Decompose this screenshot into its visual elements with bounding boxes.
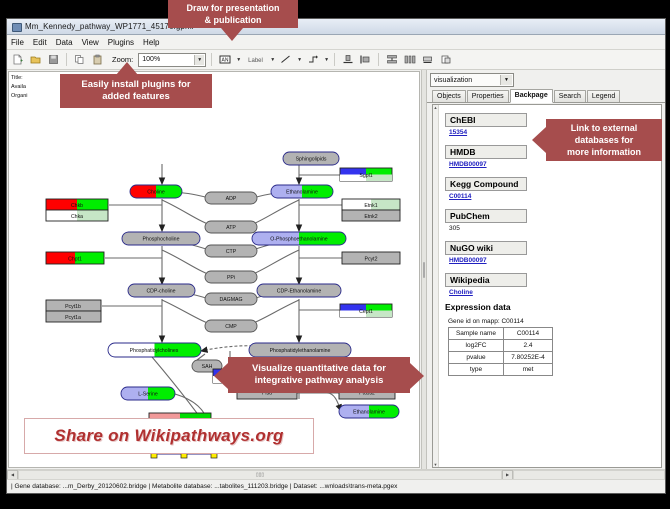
toolbar: Zoom: 100% ▼ AN ▼ Label ▼ ▼ ▼ xyxy=(7,50,665,70)
db-header-nugo-wiki: NuGO wiki xyxy=(445,241,527,255)
expression-table: Sample name C00114 log2FC 2.4 pvalue 7.8… xyxy=(448,327,553,376)
datanode-icon[interactable]: AN xyxy=(217,52,232,67)
svg-text:CTP: CTP xyxy=(226,249,237,255)
visualization-combo[interactable]: visualization ▼ xyxy=(430,73,514,87)
expression-data-heading: Expression data xyxy=(445,302,655,312)
new-file-icon[interactable] xyxy=(10,52,25,67)
db-value-pubchem: 305 xyxy=(449,225,655,232)
tab-properties[interactable]: Properties xyxy=(467,90,509,102)
chevron-down-icon[interactable]: ▼ xyxy=(297,57,302,63)
zoom-combo[interactable]: 100% ▼ xyxy=(138,53,206,67)
arrow-connector-icon[interactable] xyxy=(305,52,320,67)
svg-text:Etnk2: Etnk2 xyxy=(364,214,377,220)
svg-text:L-Serine: L-Serine xyxy=(138,392,158,398)
node-choline-top: Choline xyxy=(130,185,182,198)
svg-text:Pcyt2: Pcyt2 xyxy=(365,256,378,262)
chevron-down-icon[interactable]: ▼ xyxy=(194,55,204,65)
scroll-thumb-grip[interactable]: ▯▯▯ xyxy=(256,472,264,478)
svg-text:Chpt1: Chpt1 xyxy=(68,256,82,262)
node-etnk1: Etnk1 xyxy=(342,199,400,210)
node-cdp-ethanolamine: CDP-Ethanolamine xyxy=(257,284,341,297)
callout-external-links: Link to external databases for more info… xyxy=(546,119,662,161)
callout-links-arrow-icon xyxy=(532,127,546,153)
row-key: log2FC xyxy=(449,340,504,352)
paste-icon[interactable] xyxy=(90,52,105,67)
status-bar-text: | Gene database: ...m_Derby_20120602.bri… xyxy=(11,483,397,490)
row-key: Sample name xyxy=(449,328,504,340)
tab-backpage[interactable]: Backpage xyxy=(510,89,553,103)
svg-text:PPi: PPi xyxy=(227,275,235,281)
copy-icon[interactable] xyxy=(72,52,87,67)
label-icon[interactable]: Label xyxy=(244,52,266,67)
db-link-wikipedia[interactable]: Choline xyxy=(449,289,655,296)
toolbar-separator xyxy=(378,53,379,66)
node-chka: Chka xyxy=(46,210,108,221)
panel-tabstrip: Objects Properties Backpage Search Legen… xyxy=(427,90,665,103)
meta-title-label: Title: xyxy=(11,74,28,83)
menu-item-data[interactable]: Data xyxy=(56,38,73,47)
node-atp: ATP xyxy=(205,221,257,233)
scroll-up-icon[interactable]: ▲ xyxy=(434,105,438,110)
node-ppi: PPi xyxy=(205,271,257,283)
tab-search[interactable]: Search xyxy=(554,90,586,102)
menu-item-edit[interactable]: Edit xyxy=(33,38,47,47)
zoom-value: 100% xyxy=(142,56,160,63)
table-row: pvalue 7.80252E-4 xyxy=(449,352,553,364)
node-ethanolamine-top: Ethanolamine xyxy=(271,185,333,198)
toolbar-separator xyxy=(211,53,212,66)
callout-visualize-data: Visualize quantitative data for integrat… xyxy=(228,357,410,393)
toolbar-separator xyxy=(66,53,67,66)
scroll-track[interactable]: ▯▯▯ xyxy=(18,470,502,480)
screenshot-root: Mm_Kennedy_pathway_WP1771_45176.gpml Fil… xyxy=(0,0,670,509)
svg-text:ADP: ADP xyxy=(226,196,237,202)
toolbar-separator xyxy=(334,53,335,66)
svg-text:Cept1: Cept1 xyxy=(359,309,373,315)
callout-draw-line2: & publication xyxy=(186,14,279,26)
callout-links-line3: more information xyxy=(567,146,641,158)
open-folder-icon[interactable] xyxy=(28,52,43,67)
row-value: met xyxy=(504,364,553,376)
scroll-spacer xyxy=(513,470,665,480)
row-key: pvalue xyxy=(449,352,504,364)
row-value: 7.80252E-4 xyxy=(504,352,553,364)
svg-text:CDP-choline: CDP-choline xyxy=(146,289,175,295)
svg-text:CMP: CMP xyxy=(225,324,237,330)
row-value: 2.4 xyxy=(504,340,553,352)
callout-draw-for-publication: Draw for presentation & publication xyxy=(168,0,298,28)
node-cept1: Cept1 xyxy=(340,304,392,317)
menu-item-help[interactable]: Help xyxy=(143,38,159,47)
svg-text:Pcyt1b: Pcyt1b xyxy=(65,304,81,310)
callout-links-line2: databases for xyxy=(567,134,641,146)
svg-text:ATP: ATP xyxy=(226,225,236,231)
menu-item-file[interactable]: File xyxy=(11,38,24,47)
callout-share-wikipathways: Share on Wikipathways.org xyxy=(24,418,314,454)
scroll-left-icon[interactable]: ◀ xyxy=(7,470,18,480)
svg-text:O-Phosphoethanolamine: O-Phosphoethanolamine xyxy=(270,237,328,243)
line-icon[interactable] xyxy=(278,52,293,67)
svg-text:DAGMAG: DAGMAG xyxy=(219,297,242,303)
callout-visualize-line1: Visualize quantitative data for xyxy=(252,363,386,375)
group-icon[interactable] xyxy=(420,52,435,67)
svg-text:SAH: SAH xyxy=(202,364,213,370)
svg-text:AN: AN xyxy=(221,58,228,64)
scroll-down-icon[interactable]: ▼ xyxy=(434,462,438,467)
svg-text:Ethanolamine: Ethanolamine xyxy=(353,410,385,416)
table-row: Sample name C00114 xyxy=(449,328,553,340)
horizontal-scrollbar[interactable]: ◀ ▯▯▯ ▶ xyxy=(7,469,665,479)
node-adp: ADP xyxy=(205,192,257,204)
node-phosphocholine: Phosphocholine xyxy=(122,232,200,245)
node-phosphatidylcholines: Phosphatidylcholines xyxy=(108,343,201,357)
app-window-icon xyxy=(12,22,21,31)
meta-availability-label: Availa xyxy=(11,83,28,92)
db-link-nugo-wiki[interactable]: HMDB00097 xyxy=(449,257,655,264)
svg-text:Phosphatidylethanolamine: Phosphatidylethanolamine xyxy=(270,348,331,354)
node-pcyt2: Pcyt2 xyxy=(342,252,400,264)
table-row: log2FC 2.4 xyxy=(449,340,553,352)
chevron-down-icon[interactable]: ▼ xyxy=(236,57,241,63)
menu-item-plugins[interactable]: Plugins xyxy=(108,38,134,47)
node-pcyt1a: Pcyt1a xyxy=(46,311,101,322)
svg-text:Choline: Choline xyxy=(147,190,165,196)
callout-draw-arrow-icon xyxy=(221,28,243,41)
callout-plugins-line1: Easily install plugins for xyxy=(81,79,190,91)
callout-visualize-line2: integrative pathway analysis xyxy=(252,375,386,387)
distribute-icon[interactable] xyxy=(402,52,417,67)
title-bar: Mm_Kennedy_pathway_WP1771_45176.gpml xyxy=(7,19,665,35)
chevron-down-icon[interactable]: ▼ xyxy=(324,57,329,63)
menu-bar: File Edit Data View Plugins Help xyxy=(7,35,665,50)
node-pcyt1b: Pcyt1b xyxy=(46,300,101,311)
db-header-chebi: ChEBI xyxy=(445,113,527,127)
pathway-canvas[interactable]: Title: Availa Organi xyxy=(8,71,420,468)
share-text: Share on Wikipathways.org xyxy=(54,426,283,446)
svg-text:Etnk1: Etnk1 xyxy=(364,203,377,209)
row-value: C00114 xyxy=(504,328,553,340)
node-chkb: Chkb xyxy=(46,199,108,210)
db-link-kegg-compound[interactable]: C00114 xyxy=(449,193,655,200)
gene-id-on-mapp: Gene id on mapp: C00114 xyxy=(448,318,655,325)
chevron-down-icon[interactable]: ▼ xyxy=(500,75,512,85)
callout-draw-line1: Draw for presentation xyxy=(186,2,279,14)
svg-text:Sgpl1: Sgpl1 xyxy=(359,173,372,179)
align-bottom-icon[interactable] xyxy=(340,52,355,67)
callout-plugins-line2: added features xyxy=(81,91,190,103)
svg-text:Chkb: Chkb xyxy=(71,203,83,209)
row-key: type xyxy=(449,364,504,376)
node-etnk2: Etnk2 xyxy=(342,210,400,221)
callout-install-plugins: Easily install plugins for added feature… xyxy=(60,74,212,108)
node-o-phosphoethanolamine: O-Phosphoethanolamine xyxy=(252,232,346,245)
callout-links-line1: Link to external xyxy=(567,122,641,134)
node-chpt1: Chpt1 xyxy=(46,252,104,264)
pathway-diagram: Sphingolipids Sgpl1 Choline Ethanolamine xyxy=(9,72,420,468)
node-cmp: CMP xyxy=(205,320,257,332)
db-header-pubchem: PubChem xyxy=(445,209,527,223)
svg-text:Phosphatidylcholines: Phosphatidylcholines xyxy=(130,348,179,354)
stack-vertical-icon[interactable] xyxy=(384,52,399,67)
pathway-meta-labels: Title: Availa Organi xyxy=(11,74,28,101)
node-l-serine-left: L-Serine xyxy=(121,387,175,400)
node-sgpl1: Sgpl1 xyxy=(340,168,392,181)
node-phosphatidylethanolamine: Phosphatidylethanolamine xyxy=(249,343,351,357)
svg-text:Label: Label xyxy=(248,58,263,64)
visualization-combo-value: visualization xyxy=(434,77,472,84)
save-icon[interactable] xyxy=(46,52,61,67)
node-ethanolamine-right: Ethanolamine xyxy=(339,405,399,418)
db-header-hmdb: HMDB xyxy=(445,145,527,159)
db-header-kegg-compound: Kegg Compound xyxy=(445,177,527,191)
status-bar: | Gene database: ...m_Derby_20120602.bri… xyxy=(7,479,665,493)
svg-text:CDP-Ethanolamine: CDP-Ethanolamine xyxy=(277,289,322,295)
align-left-icon[interactable] xyxy=(358,52,373,67)
tab-objects[interactable]: Objects xyxy=(432,90,466,102)
node-cdp-choline: CDP-choline xyxy=(128,284,195,297)
scroll-right-icon[interactable]: ▶ xyxy=(502,470,513,480)
menu-item-view[interactable]: View xyxy=(82,38,99,47)
chevron-down-icon[interactable]: ▼ xyxy=(270,57,275,63)
visualization-row: visualization ▼ xyxy=(427,70,665,90)
svg-text:Phosphocholine: Phosphocholine xyxy=(143,237,180,243)
order-icon[interactable] xyxy=(438,52,453,67)
table-row: type met xyxy=(449,364,553,376)
svg-text:Pcyt1a: Pcyt1a xyxy=(65,315,81,321)
svg-text:Ethanolamine: Ethanolamine xyxy=(286,190,318,196)
svg-text:Chka: Chka xyxy=(71,214,83,220)
callout-visualize-arrow-left-icon xyxy=(214,363,228,389)
db-header-wikipedia: Wikipedia xyxy=(445,273,527,287)
db-link-hmdb[interactable]: HMDB00097 xyxy=(449,161,655,168)
node-ctp: CTP xyxy=(205,245,257,257)
callout-visualize-arrow-right-icon xyxy=(410,363,424,389)
meta-organism-label: Organi xyxy=(11,92,28,101)
tab-legend[interactable]: Legend xyxy=(587,90,620,102)
node-sphingolipids: Sphingolipids xyxy=(283,152,339,165)
svg-text:Sphingolipids: Sphingolipids xyxy=(296,157,327,163)
node-dagmag: DAGMAG xyxy=(205,293,257,305)
